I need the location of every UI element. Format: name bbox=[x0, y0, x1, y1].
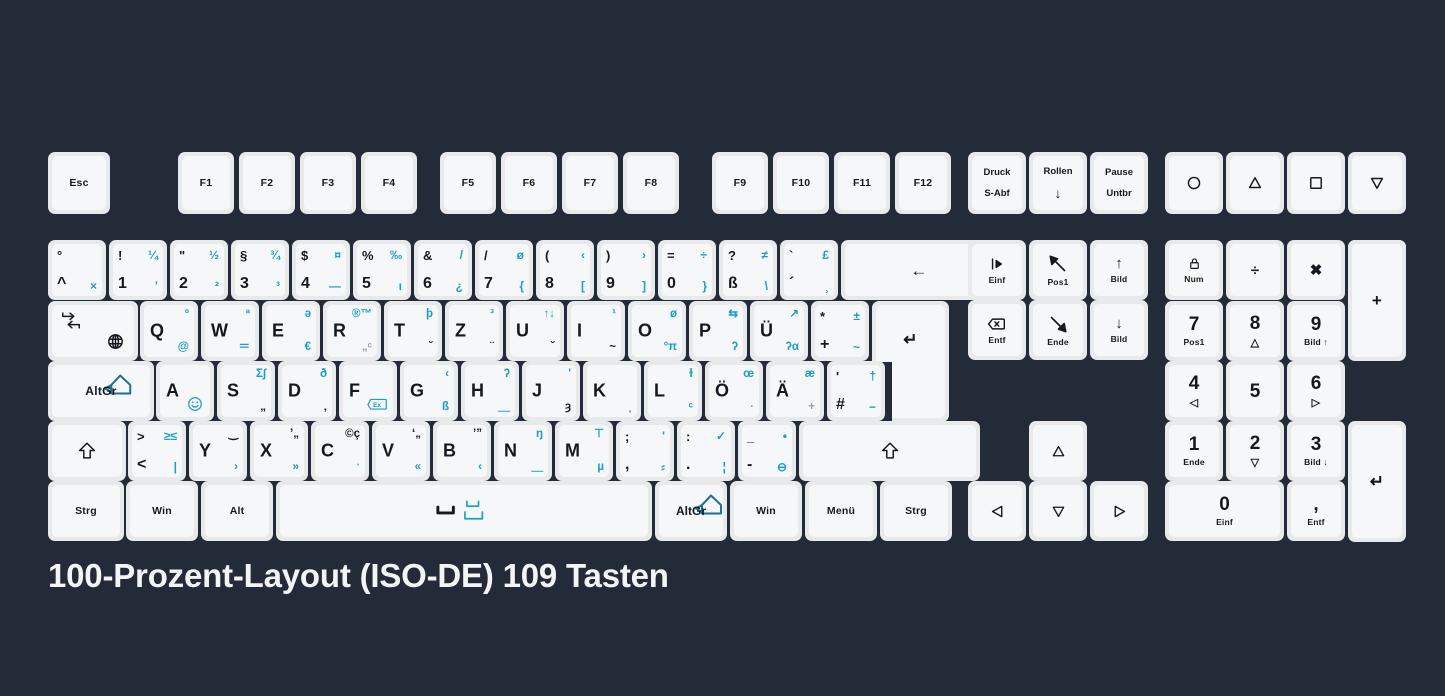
page-title: 100-Prozent-Layout (ISO-DE) 109 Tasten bbox=[48, 557, 669, 595]
keycap: Oø°π bbox=[632, 305, 682, 357]
key-c[interactable]: C©çˑ bbox=[311, 421, 369, 481]
letter-main: F bbox=[349, 381, 360, 402]
key-num-10[interactable]: =÷0} bbox=[658, 240, 716, 300]
key-nav-einf[interactable]: Einf bbox=[968, 240, 1026, 300]
key-numpad-op1[interactable]: ÷ bbox=[1226, 240, 1284, 300]
keycap: I¹~ bbox=[571, 305, 621, 357]
key-w[interactable]: Wª＝ bbox=[201, 301, 259, 361]
key-label: F6 bbox=[523, 178, 536, 189]
legend-top-left: * bbox=[820, 310, 825, 323]
keycap: F3 bbox=[304, 156, 352, 210]
keycap: C©çˑ bbox=[315, 425, 365, 477]
keycap: F6 bbox=[505, 156, 553, 210]
letter-main: Ü bbox=[760, 321, 773, 342]
key-f[interactable]: FEx bbox=[339, 361, 397, 421]
multi-legend: "½2² bbox=[174, 244, 224, 296]
key-arrow-right[interactable] bbox=[1090, 481, 1148, 541]
key-shift-right[interactable] bbox=[799, 421, 980, 481]
letter-lower-right: ＿ bbox=[499, 402, 511, 414]
key-y[interactable]: Y‿› bbox=[189, 421, 247, 481]
triangle-down-icon bbox=[1368, 174, 1386, 192]
letter-main: S bbox=[227, 381, 239, 402]
letter-upper-right: ©ç bbox=[345, 429, 360, 441]
letter-lower-right: ＝ bbox=[239, 342, 251, 354]
key-num-5[interactable]: %‰5ı bbox=[353, 240, 411, 300]
letter-legend: Ü↗ʔα bbox=[754, 305, 804, 357]
keycap: 5 bbox=[1230, 365, 1280, 417]
key-g[interactable]: G‹ß bbox=[400, 361, 458, 421]
key-arrow-up[interactable] bbox=[1029, 421, 1087, 481]
circle-icon bbox=[1185, 174, 1203, 192]
key-f3[interactable]: F3 bbox=[300, 152, 356, 214]
key-z[interactable]: Z³¨ bbox=[445, 301, 503, 361]
letter-legend: P⇆ʔ bbox=[693, 305, 743, 357]
caps-legend: AltGr bbox=[52, 365, 150, 417]
keycap: Lɫᶜ bbox=[648, 365, 698, 417]
legend-bottom-left: # bbox=[836, 397, 845, 413]
key-o[interactable]: Oø°π bbox=[628, 301, 686, 361]
key-space[interactable] bbox=[276, 481, 652, 541]
key-num-6[interactable]: &/6¿ bbox=[414, 240, 472, 300]
key-arrow-left[interactable] bbox=[968, 481, 1026, 541]
key-numpad-7[interactable]: 7Pos1 bbox=[1165, 301, 1223, 361]
letter-legend: Oø°π bbox=[632, 305, 682, 357]
key-glyph: ↑ bbox=[1115, 256, 1123, 271]
letter-main: Q bbox=[150, 321, 164, 342]
letter-lower-right: @ bbox=[178, 342, 189, 354]
keycap: '†#− bbox=[831, 365, 881, 417]
legend-top: Druck bbox=[984, 167, 1011, 178]
keycap bbox=[52, 425, 122, 477]
key-h[interactable]: Hʔ＿ bbox=[461, 361, 519, 421]
keycap: AltGr bbox=[52, 365, 150, 417]
key-f12[interactable]: F12 bbox=[895, 152, 951, 214]
key-glyph: 4 bbox=[1189, 374, 1200, 393]
key-num-4[interactable]: $¤4— bbox=[292, 240, 350, 300]
keycap: Z³¨ bbox=[449, 305, 499, 357]
triangle-icon bbox=[1246, 174, 1264, 192]
key-hash[interactable]: '†#− bbox=[827, 361, 885, 421]
keycap: 2▽ bbox=[1230, 425, 1280, 477]
letter-legend: Qº@ bbox=[144, 305, 194, 357]
legend-bottom-left: 6 bbox=[423, 276, 432, 292]
key-ä[interactable]: Äæ+ bbox=[766, 361, 824, 421]
key-numpad-plus[interactable]: + bbox=[1348, 240, 1406, 361]
glyph-word-legend: Entf bbox=[972, 304, 1022, 356]
key-f8[interactable]: F8 bbox=[623, 152, 679, 214]
letter-main: X bbox=[260, 441, 272, 462]
key-n[interactable]: Nŋ＿ bbox=[494, 421, 552, 481]
key-glyph: 6 bbox=[1311, 374, 1322, 393]
key-ö[interactable]: Öœ· bbox=[705, 361, 763, 421]
legend-top-right: ø bbox=[517, 249, 524, 261]
key-num-11[interactable]: ?≠ß\ bbox=[719, 240, 777, 300]
key-q[interactable]: Qº@ bbox=[140, 301, 198, 361]
key-numpad-2[interactable]: 2▽ bbox=[1226, 421, 1284, 481]
key-l[interactable]: Lɫᶜ bbox=[644, 361, 702, 421]
keycap: )›9] bbox=[601, 244, 651, 296]
indicator-circle bbox=[1165, 152, 1223, 214]
legend-bottom: ↓ bbox=[1055, 186, 1062, 200]
legend-top-right: ≥≤ bbox=[164, 430, 177, 442]
keycap: 1Ende bbox=[1169, 425, 1219, 477]
keycap: Nŋ＿ bbox=[498, 425, 548, 477]
keycap: ,Entf bbox=[1291, 485, 1341, 537]
keycap: F1 bbox=[182, 156, 230, 210]
key-nav-ende[interactable]: Ende bbox=[1029, 300, 1087, 360]
glyph-word-legend: 6▷ bbox=[1291, 365, 1341, 417]
indicator-triangle-down bbox=[1348, 152, 1406, 214]
keycap bbox=[972, 485, 1022, 537]
multi-legend: ;ʹ,⸗ bbox=[620, 425, 670, 477]
key-sublabel: ▽ bbox=[1251, 456, 1260, 469]
key-sublabel: Bild ↑ bbox=[1304, 337, 1328, 347]
legend-top-left: % bbox=[362, 249, 374, 262]
key-num-12[interactable]: `£´¸ bbox=[780, 240, 838, 300]
keycap bbox=[52, 305, 134, 357]
legend-top-left: ; bbox=[625, 430, 629, 443]
keycap: *±+~ bbox=[815, 305, 865, 357]
glyph-word-legend: 4◁ bbox=[1169, 365, 1219, 417]
letter-upper-right: Σ∫ bbox=[256, 369, 266, 381]
legend-top-left: $ bbox=[301, 249, 308, 262]
letter-main: R bbox=[333, 321, 346, 342]
letter-upper-right: ɫ bbox=[689, 369, 693, 381]
keycap: 4◁ bbox=[1169, 365, 1219, 417]
key-numpad-op2[interactable]: ✖ bbox=[1287, 240, 1345, 300]
key-nav-bild[interactable]: ↑Bild bbox=[1090, 240, 1148, 300]
letter-upper-right: œ bbox=[743, 369, 754, 381]
legend-bottom-right: | bbox=[174, 461, 177, 473]
legend-bottom-left: . bbox=[686, 457, 690, 473]
letter-upper-right: ↑↓ bbox=[544, 309, 556, 321]
key-caps-altgr[interactable]: AltGr bbox=[48, 361, 154, 421]
key-num-8[interactable]: (‹8[ bbox=[536, 240, 594, 300]
key-win-right[interactable]: Win bbox=[730, 481, 802, 541]
key-v[interactable]: V‘„« bbox=[372, 421, 430, 481]
legend-bottom-right: × bbox=[90, 280, 97, 292]
key-m[interactable]: M⊤µ bbox=[555, 421, 613, 481]
stacked-legend: Rollen↓ bbox=[1033, 156, 1083, 210]
letter-upper-right: ’” bbox=[473, 429, 482, 441]
key-sublabel: Pos1 bbox=[1047, 277, 1068, 287]
key-label: F10 bbox=[792, 178, 811, 189]
legend-bottom-left: 9 bbox=[606, 276, 615, 292]
key-r[interactable]: R®™„ᶜ bbox=[323, 301, 381, 361]
lock-icon bbox=[1187, 256, 1202, 271]
key-f2[interactable]: F2 bbox=[239, 152, 295, 214]
glyph-word-legend: ÷ bbox=[1230, 244, 1280, 296]
legend-bottom-right: ² bbox=[215, 280, 219, 292]
key-glyph: 1 bbox=[1189, 435, 1200, 454]
keycap: G‹ß bbox=[404, 365, 454, 417]
legend-bottom-left: 8 bbox=[545, 276, 554, 292]
key-sublabel: △ bbox=[1251, 336, 1260, 349]
legend-bottom-right: } bbox=[702, 280, 707, 292]
key-b[interactable]: B’”‹ bbox=[433, 421, 491, 481]
letter-upper-right: ⊤ bbox=[594, 429, 604, 441]
letter-legend: Äæ+ bbox=[770, 365, 820, 417]
key-u[interactable]: U↑↓˘ bbox=[506, 301, 564, 361]
legend-bottom-right: ı bbox=[399, 280, 402, 292]
key-numpad-6[interactable]: 6▷ bbox=[1287, 361, 1345, 421]
key-system-1[interactable]: Rollen↓ bbox=[1029, 152, 1087, 214]
key-num-1[interactable]: !¼1’ bbox=[109, 240, 167, 300]
legend-bottom-left: ´ bbox=[789, 276, 794, 292]
key-sym9[interactable]: :✓.¦ bbox=[677, 421, 735, 481]
shift-arrow-icon bbox=[879, 440, 901, 462]
letter-main: B bbox=[443, 441, 456, 462]
key-sym10[interactable]: _•-⊖ bbox=[738, 421, 796, 481]
letter-upper-right: ð bbox=[320, 369, 327, 381]
keycap: 3Bild ↓ bbox=[1291, 425, 1341, 477]
key-nav-entf[interactable]: Entf bbox=[968, 300, 1026, 360]
key-sym8[interactable]: ;ʹ,⸗ bbox=[616, 421, 674, 481]
keycap: °^× bbox=[52, 244, 102, 296]
letter-lower-right: € bbox=[305, 342, 311, 354]
key-f4[interactable]: F4 bbox=[361, 152, 417, 214]
key-numpad-9[interactable]: 9Bild ↑ bbox=[1287, 301, 1345, 361]
letter-main: K bbox=[593, 381, 606, 402]
key-altgr[interactable]: AltGr bbox=[655, 481, 727, 541]
key-e[interactable]: Eə€ bbox=[262, 301, 320, 361]
key-menu[interactable]: Menü bbox=[805, 481, 877, 541]
letter-lower-right: ˌ bbox=[628, 402, 632, 414]
letter-legend: X’„» bbox=[254, 425, 304, 477]
globe-icon bbox=[106, 332, 125, 351]
key-f9[interactable]: F9 bbox=[712, 152, 768, 214]
key-numpad-comma[interactable]: ,Entf bbox=[1287, 481, 1345, 541]
glyph-word-legend: 5 bbox=[1230, 365, 1280, 417]
key-numpad-1[interactable]: 1Ende bbox=[1165, 421, 1223, 481]
tab-arrows-icon bbox=[60, 312, 82, 329]
key-arrow-down[interactable] bbox=[1029, 481, 1087, 541]
key-numpad-num[interactable]: Num bbox=[1165, 240, 1223, 300]
delete-icon bbox=[987, 316, 1007, 332]
legend-top-right: › bbox=[642, 249, 646, 261]
keycap: Ende bbox=[1033, 304, 1083, 356]
letter-upper-right: ‘„ bbox=[412, 429, 421, 441]
key-shift-left[interactable] bbox=[48, 421, 126, 481]
stacked-legend: DruckS-Abf bbox=[972, 156, 1022, 210]
keycap: &/6¿ bbox=[418, 244, 468, 296]
numpad-enter-arrow: ↵ bbox=[1370, 473, 1384, 490]
legend-bottom-left: ^ bbox=[57, 276, 66, 292]
letter-lower-right: ~ bbox=[609, 342, 616, 354]
key-x[interactable]: X’„» bbox=[250, 421, 308, 481]
keycap: F10 bbox=[777, 156, 825, 210]
letter-legend: G‹ß bbox=[404, 365, 454, 417]
glyph-word-legend: ,Entf bbox=[1291, 485, 1341, 537]
legend-bottom-left: , bbox=[625, 457, 629, 473]
multi-legend: ?≠ß\ bbox=[723, 244, 773, 296]
legend-top-left: & bbox=[423, 249, 432, 262]
keycap bbox=[280, 485, 648, 537]
key-nav-pos1[interactable]: Pos1 bbox=[1029, 240, 1087, 300]
legend-top-left: : bbox=[686, 430, 690, 443]
letter-main: Z bbox=[455, 321, 466, 342]
letter-main: W bbox=[211, 321, 228, 342]
key-glyph: 3 bbox=[1311, 435, 1322, 454]
keycap: `£´¸ bbox=[784, 244, 834, 296]
key-f11[interactable]: F11 bbox=[834, 152, 890, 214]
key-f6[interactable]: F6 bbox=[501, 152, 557, 214]
letter-lower-right: ˘ bbox=[429, 342, 433, 354]
letter-upper-right: ®™ bbox=[352, 309, 372, 321]
legend-bottom-left: + bbox=[820, 337, 829, 353]
key-f1[interactable]: F1 bbox=[178, 152, 234, 214]
key-esc[interactable]: Esc bbox=[48, 152, 110, 214]
letter-upper-right: ə bbox=[305, 309, 311, 321]
key-glyph: ✖ bbox=[1310, 263, 1323, 278]
keycap: Esc bbox=[52, 156, 106, 210]
letter-main: O bbox=[638, 321, 652, 342]
key-sym0[interactable]: >≥≤<| bbox=[128, 421, 186, 481]
letter-legend: B’”‹ bbox=[437, 425, 487, 477]
key-system-2[interactable]: PauseUntbr bbox=[1090, 152, 1148, 214]
letter-lower-right: ‚ bbox=[324, 402, 327, 414]
key-num-7[interactable]: /ø7{ bbox=[475, 240, 533, 300]
legend-top-left: = bbox=[667, 249, 675, 262]
keycap: §¾3³ bbox=[235, 244, 285, 296]
keycap: U↑↓˘ bbox=[510, 305, 560, 357]
keycap: Strg bbox=[884, 485, 948, 537]
key-label: Win bbox=[152, 506, 172, 517]
key-numpad-5[interactable]: 5 bbox=[1226, 361, 1284, 421]
key-sublabel: Bild bbox=[1111, 334, 1128, 344]
keycap: Qº@ bbox=[144, 305, 194, 357]
key-num-0[interactable]: °^× bbox=[48, 240, 106, 300]
letter-legend: FEx bbox=[343, 365, 393, 417]
letter-upper-right: ↗ bbox=[789, 309, 799, 321]
keycap: >≥≤<| bbox=[132, 425, 182, 477]
key-num-2[interactable]: "½2² bbox=[170, 240, 228, 300]
legend-bottom-left: ß bbox=[728, 276, 738, 292]
legend-top-right: † bbox=[869, 370, 876, 382]
key-f5[interactable]: F5 bbox=[440, 152, 496, 214]
key-t[interactable]: Tþ˘ bbox=[384, 301, 442, 361]
letter-upper-right: æ bbox=[805, 369, 815, 381]
triangle-down-icon bbox=[1050, 503, 1067, 520]
key-p[interactable]: P⇆ʔ bbox=[689, 301, 747, 361]
keycap: PauseUntbr bbox=[1094, 156, 1144, 210]
letter-upper-right: ª bbox=[246, 309, 250, 321]
letter-main: P bbox=[699, 321, 711, 342]
keycap: 0Einf bbox=[1169, 485, 1280, 537]
key-plus[interactable]: *±+~ bbox=[811, 301, 869, 361]
key-a[interactable]: A bbox=[156, 361, 214, 421]
key-glyph: 9 bbox=[1311, 315, 1322, 334]
keycap: Einf bbox=[972, 244, 1022, 296]
letter-legend: Y‿› bbox=[193, 425, 243, 477]
key-num-9[interactable]: )›9] bbox=[597, 240, 655, 300]
letter-lower-right: » bbox=[293, 462, 299, 474]
ex-icon: Ex bbox=[367, 397, 389, 412]
key-nav-bild[interactable]: ↓Bild bbox=[1090, 300, 1148, 360]
letter-upper-right: ʹ bbox=[568, 369, 571, 381]
key-tab[interactable] bbox=[48, 301, 138, 361]
glyph-word-legend: ↓Bild bbox=[1094, 304, 1144, 356]
caps-label: AltGr bbox=[85, 384, 117, 398]
letter-legend: SΣ∫„ bbox=[221, 365, 271, 417]
key-numpad-0[interactable]: 0Einf bbox=[1165, 481, 1284, 541]
letter-lower-right: + bbox=[808, 402, 815, 414]
legend-top-right: ‰ bbox=[390, 249, 402, 261]
keycap: R®™„ᶜ bbox=[327, 305, 377, 357]
letter-lower-right: µ bbox=[597, 462, 604, 474]
key-d[interactable]: Dð‚ bbox=[278, 361, 336, 421]
keycap: Rollen↓ bbox=[1033, 156, 1083, 210]
keycap: Y‿› bbox=[193, 425, 243, 477]
keycap: :✓.¦ bbox=[681, 425, 731, 477]
keycap: !¼1’ bbox=[113, 244, 163, 296]
key-glyph: 8 bbox=[1250, 314, 1261, 333]
key-k[interactable]: Kˌ bbox=[583, 361, 641, 421]
key-system-0[interactable]: DruckS-Abf bbox=[968, 152, 1026, 214]
keycap: ÷ bbox=[1230, 244, 1280, 296]
key-glyph: 5 bbox=[1250, 382, 1261, 401]
keycap bbox=[1352, 156, 1402, 210]
keycap: Entf bbox=[972, 304, 1022, 356]
key-s[interactable]: SΣ∫„ bbox=[217, 361, 275, 421]
key-sublabel: Bild bbox=[1111, 274, 1128, 284]
glyph-word-legend: 8△ bbox=[1230, 305, 1280, 357]
keycap: 9Bild ↑ bbox=[1291, 305, 1341, 357]
key-ctrl-left[interactable]: Strg bbox=[48, 481, 124, 541]
keycap: 7Pos1 bbox=[1169, 305, 1219, 357]
key-numpad-4[interactable]: 4◁ bbox=[1165, 361, 1223, 421]
keycap: ↑Bild bbox=[1094, 244, 1144, 296]
key-i[interactable]: I¹~ bbox=[567, 301, 625, 361]
key-sublabel: Entf bbox=[988, 335, 1005, 345]
keycap: + bbox=[1352, 244, 1402, 357]
keycap: Dð‚ bbox=[282, 365, 332, 417]
key-num-3[interactable]: §¾3³ bbox=[231, 240, 289, 300]
key-ü[interactable]: Ü↗ʔα bbox=[750, 301, 808, 361]
letter-main: Y bbox=[199, 441, 211, 462]
keycap: F7 bbox=[566, 156, 614, 210]
triangle-left-icon bbox=[989, 503, 1006, 520]
keycap: =÷0} bbox=[662, 244, 712, 296]
key-win-left[interactable]: Win bbox=[126, 481, 198, 541]
legend-top: Pause bbox=[1105, 167, 1133, 178]
keycap: F4 bbox=[365, 156, 413, 210]
key-alt-left[interactable]: Alt bbox=[201, 481, 273, 541]
key-numpad-3[interactable]: 3Bild ↓ bbox=[1287, 421, 1345, 481]
letter-legend: R®™„ᶜ bbox=[327, 305, 377, 357]
legend-bottom-right: − bbox=[869, 401, 876, 413]
letter-main: V bbox=[382, 441, 394, 462]
letter-lower-right: ˘ bbox=[551, 342, 555, 354]
letter-legend: I¹~ bbox=[571, 305, 621, 357]
multi-legend: §¾3³ bbox=[235, 244, 285, 296]
key-ctrl-right[interactable]: Strg bbox=[880, 481, 952, 541]
legend-bottom-right: ¿ bbox=[456, 280, 463, 292]
space-bracket-icon bbox=[434, 498, 494, 524]
key-numpad-8[interactable]: 8△ bbox=[1226, 301, 1284, 361]
letter-legend: Tþ˘ bbox=[388, 305, 438, 357]
key-f7[interactable]: F7 bbox=[562, 152, 618, 214]
keycap bbox=[1033, 425, 1083, 477]
key-f10[interactable]: F10 bbox=[773, 152, 829, 214]
letter-upper-right: ‿ bbox=[229, 429, 238, 441]
key-numpad-enter[interactable]: ↵ bbox=[1348, 421, 1406, 542]
legend-bottom-right: ⊖ bbox=[777, 461, 787, 473]
tab-legend bbox=[52, 305, 134, 357]
key-j[interactable]: Jʹȝ bbox=[522, 361, 580, 421]
keycap: Pos1 bbox=[1033, 244, 1083, 296]
glyph-word-legend: 1Ende bbox=[1169, 425, 1219, 477]
